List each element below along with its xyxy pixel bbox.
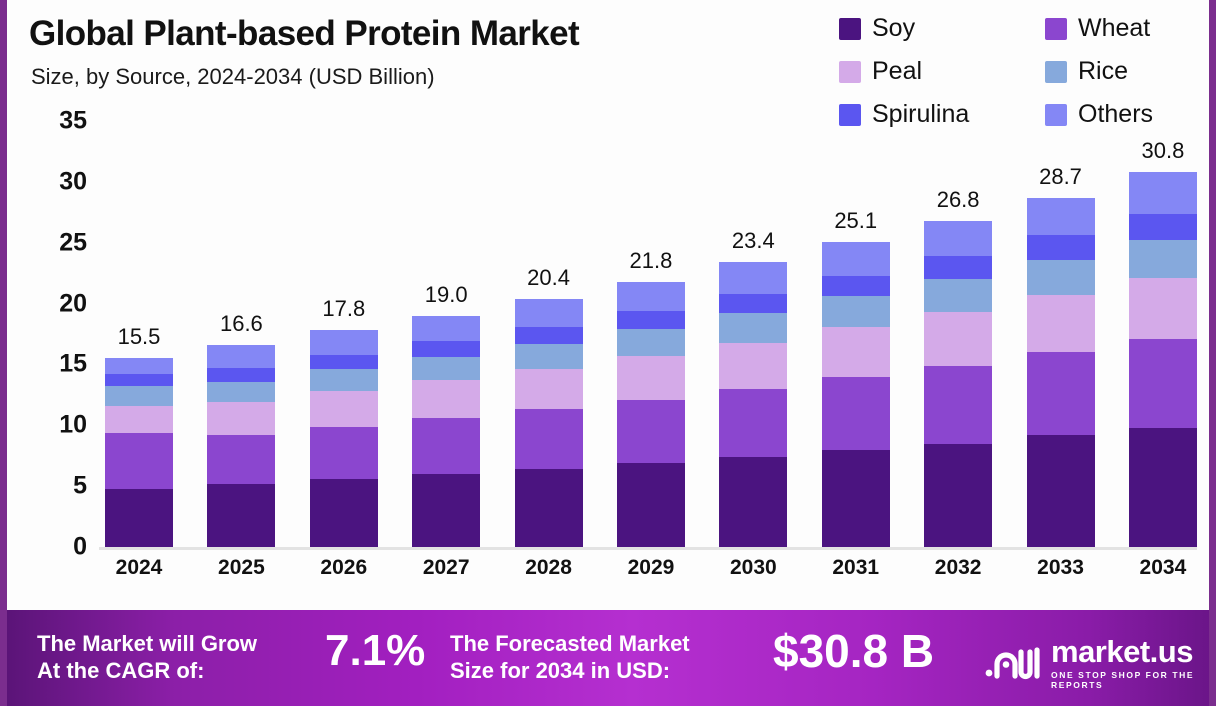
bar-segment-soy[interactable] <box>207 484 275 547</box>
bar-column-2034[interactable]: 30.8 <box>1127 121 1199 547</box>
legend-item-soy[interactable]: Soy <box>839 16 915 41</box>
bar-segment-others[interactable] <box>617 282 685 311</box>
bar-value-label: 25.1 <box>834 208 877 234</box>
x-axis-tick-2024: 2024 <box>103 556 175 590</box>
bar-segment-spirulina[interactable] <box>515 327 583 344</box>
bar-value-label: 15.5 <box>118 324 161 350</box>
bar-segment-peal[interactable] <box>822 327 890 377</box>
x-axis-tick-2033: 2033 <box>1025 556 1097 590</box>
bar-segment-wheat[interactable] <box>515 409 583 469</box>
bar-segment-soy[interactable] <box>515 469 583 547</box>
bar-segment-wheat[interactable] <box>207 435 275 484</box>
market-us-logo-icon <box>985 642 1043 684</box>
stacked-bar[interactable] <box>310 330 378 547</box>
bar-segment-wheat[interactable] <box>1129 339 1197 428</box>
bar-segment-others[interactable] <box>207 345 275 368</box>
logo-text: market.us ONE STOP SHOP FOR THE REPORTS <box>1051 636 1209 690</box>
y-axis-tick: 0 <box>7 533 87 562</box>
bar-segment-rice[interactable] <box>924 279 992 312</box>
legend-swatch-icon <box>839 18 861 40</box>
bar-segment-peal[interactable] <box>924 312 992 366</box>
bar-segment-spirulina[interactable] <box>1027 235 1095 259</box>
bar-column-2028[interactable]: 20.4 <box>513 121 585 547</box>
bar-segment-peal[interactable] <box>515 369 583 409</box>
y-axis-tick: 15 <box>7 350 87 379</box>
bar-segment-rice[interactable] <box>207 382 275 403</box>
bar-column-2032[interactable]: 26.8 <box>922 121 994 547</box>
bar-column-2024[interactable]: 15.5 <box>103 121 175 547</box>
bar-segment-wheat[interactable] <box>719 389 787 457</box>
legend-swatch-icon <box>1045 18 1067 40</box>
bar-segment-soy[interactable] <box>412 474 480 547</box>
bar-segment-spirulina[interactable] <box>822 276 890 297</box>
x-axis-tick-2029: 2029 <box>615 556 687 590</box>
bar-segment-spirulina[interactable] <box>719 294 787 313</box>
y-axis-tick: 30 <box>7 167 87 196</box>
x-axis-tick-2031: 2031 <box>820 556 892 590</box>
bar-segment-peal[interactable] <box>1027 295 1095 352</box>
bar-segment-soy[interactable] <box>822 450 890 547</box>
x-axis-line <box>99 547 1197 550</box>
stacked-bar[interactable] <box>822 242 890 548</box>
bar-value-label: 30.8 <box>1141 138 1184 164</box>
stacked-bar[interactable] <box>617 282 685 547</box>
chart-plot-area: 05101520253035 15.516.617.819.020.421.82… <box>7 118 1209 550</box>
bar-value-label: 20.4 <box>527 265 570 291</box>
bar-segment-peal[interactable] <box>412 380 480 418</box>
x-axis-tick-2028: 2028 <box>513 556 585 590</box>
x-axis-tick-2032: 2032 <box>922 556 994 590</box>
legend-item-rice[interactable]: Rice <box>1045 59 1128 84</box>
legend-item-wheat[interactable]: Wheat <box>1045 16 1150 41</box>
page-title: Global Plant-based Protein Market <box>29 14 579 54</box>
bar-segment-others[interactable] <box>1027 198 1095 236</box>
bar-segment-rice[interactable] <box>822 296 890 326</box>
bar-segment-peal[interactable] <box>617 356 685 400</box>
x-axis-labels: 2024202520262027202820292030203120322033… <box>103 556 1199 590</box>
bar-segment-others[interactable] <box>515 299 583 327</box>
bar-value-label: 19.0 <box>425 282 468 308</box>
legend-item-label: Peal <box>872 59 922 84</box>
bar-value-label: 26.8 <box>937 187 980 213</box>
bar-segment-rice[interactable] <box>617 329 685 356</box>
bar-segment-rice[interactable] <box>1027 260 1095 295</box>
bar-segment-others[interactable] <box>310 330 378 354</box>
logo-wordmark: market.us <box>1051 636 1209 667</box>
bar-segment-wheat[interactable] <box>822 377 890 450</box>
stacked-bar[interactable] <box>105 358 173 547</box>
stacked-bar[interactable] <box>924 221 992 547</box>
bar-segment-peal[interactable] <box>1129 278 1197 339</box>
bar-segment-rice[interactable] <box>412 357 480 380</box>
stacked-bar[interactable] <box>515 299 583 547</box>
bar-segment-soy[interactable] <box>105 489 173 547</box>
stacked-bar[interactable] <box>1027 198 1095 547</box>
bar-group: 15.516.617.819.020.421.823.425.126.828.7… <box>103 121 1199 547</box>
bar-segment-others[interactable] <box>412 316 480 342</box>
bar-segment-spirulina[interactable] <box>1129 214 1197 241</box>
bar-segment-others[interactable] <box>105 358 173 374</box>
bar-segment-wheat[interactable] <box>924 366 992 444</box>
bar-segment-wheat[interactable] <box>617 400 685 463</box>
y-axis-tick: 35 <box>7 107 87 136</box>
forecast-size-label: The Forecasted Market Size for 2034 in U… <box>450 630 690 684</box>
bar-column-2029[interactable]: 21.8 <box>615 121 687 547</box>
infographic-root: Global Plant-based Protein Market Size, … <box>0 0 1216 706</box>
bar-segment-spirulina[interactable] <box>207 368 275 381</box>
cagr-label: The Market will Grow At the CAGR of: <box>37 630 257 684</box>
stacked-bar[interactable] <box>412 316 480 547</box>
x-axis-tick-2025: 2025 <box>205 556 277 590</box>
bar-segment-rice[interactable] <box>719 313 787 342</box>
stacked-bar[interactable] <box>719 262 787 547</box>
bar-segment-peal[interactable] <box>105 406 173 433</box>
market-us-logo: market.us ONE STOP SHOP FOR THE REPORTS <box>985 636 1209 690</box>
x-axis-tick-2026: 2026 <box>308 556 380 590</box>
y-axis-labels: 05101520253035 <box>7 118 93 550</box>
bar-segment-others[interactable] <box>719 262 787 294</box>
bar-segment-spirulina[interactable] <box>310 355 378 370</box>
bar-segment-wheat[interactable] <box>1027 352 1095 435</box>
bar-value-label: 17.8 <box>322 296 365 322</box>
bar-column-2026[interactable]: 17.8 <box>308 121 380 547</box>
legend-swatch-icon <box>839 61 861 83</box>
bar-column-2033[interactable]: 28.7 <box>1025 121 1097 547</box>
bar-segment-rice[interactable] <box>515 344 583 370</box>
bar-segment-peal[interactable] <box>719 343 787 389</box>
x-axis-tick-2027: 2027 <box>410 556 482 590</box>
bar-segment-soy[interactable] <box>310 479 378 547</box>
bar-segment-spirulina[interactable] <box>617 311 685 329</box>
bar-segment-wheat[interactable] <box>310 427 378 479</box>
bar-segment-soy[interactable] <box>617 463 685 547</box>
cagr-value: 7.1% <box>325 626 425 676</box>
bar-segment-wheat[interactable] <box>412 418 480 474</box>
y-axis-tick: 20 <box>7 289 87 318</box>
legend-item-peal[interactable]: Peal <box>839 59 922 84</box>
bar-value-label: 16.6 <box>220 311 263 337</box>
legend-item-label: Rice <box>1078 59 1128 84</box>
bar-value-label: 21.8 <box>630 248 673 274</box>
bar-segment-rice[interactable] <box>310 369 378 391</box>
bar-column-2025[interactable]: 16.6 <box>205 121 277 547</box>
y-axis-tick: 10 <box>7 411 87 440</box>
bar-segment-wheat[interactable] <box>105 433 173 489</box>
legend-item-label: Soy <box>872 16 915 41</box>
bar-value-label: 23.4 <box>732 228 775 254</box>
bar-value-label: 28.7 <box>1039 164 1082 190</box>
bar-column-2027[interactable]: 19.0 <box>410 121 482 547</box>
page-subtitle: Size, by Source, 2024-2034 (USD Billion) <box>31 64 435 90</box>
footer-banner: The Market will Grow At the CAGR of: 7.1… <box>7 610 1209 706</box>
bar-segment-rice[interactable] <box>1129 240 1197 278</box>
legend-item-label: Wheat <box>1078 16 1150 41</box>
bar-column-2030[interactable]: 23.4 <box>717 121 789 547</box>
bar-segment-rice[interactable] <box>105 386 173 405</box>
bar-column-2031[interactable]: 25.1 <box>820 121 892 547</box>
stacked-bar[interactable] <box>207 345 275 547</box>
x-axis-tick-2030: 2030 <box>717 556 789 590</box>
bar-segment-soy[interactable] <box>719 457 787 547</box>
x-axis-tick-2034: 2034 <box>1127 556 1199 590</box>
bar-segment-soy[interactable] <box>1027 435 1095 547</box>
bar-segment-soy[interactable] <box>924 444 992 547</box>
y-axis-tick: 5 <box>7 472 87 501</box>
bar-segment-others[interactable] <box>822 242 890 276</box>
forecast-size-value: $30.8 B <box>773 624 934 678</box>
bar-segment-soy[interactable] <box>1129 428 1197 547</box>
bar-segment-peal[interactable] <box>310 391 378 426</box>
chart-legend: SoyWheatPealRiceSpirulinaOthers <box>839 12 1199 132</box>
legend-swatch-icon <box>1045 61 1067 83</box>
bar-segment-peal[interactable] <box>207 402 275 435</box>
bar-segment-others[interactable] <box>1129 172 1197 213</box>
bar-segment-spirulina[interactable] <box>105 374 173 386</box>
bar-segment-spirulina[interactable] <box>924 256 992 279</box>
stacked-bar[interactable] <box>1129 172 1197 547</box>
y-axis-tick: 25 <box>7 228 87 257</box>
bar-segment-others[interactable] <box>924 221 992 256</box>
bar-segment-spirulina[interactable] <box>412 341 480 357</box>
logo-tagline: ONE STOP SHOP FOR THE REPORTS <box>1051 670 1209 690</box>
